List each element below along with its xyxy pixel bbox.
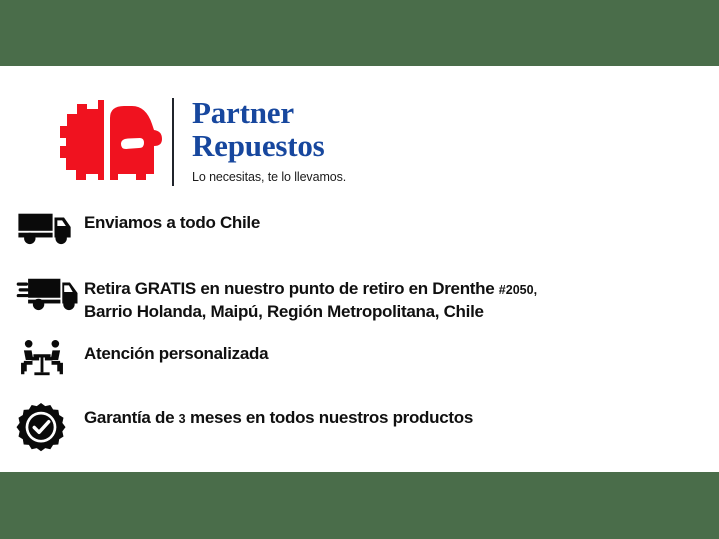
- brand-tagline: Lo necesitas, te lo llevamos.: [192, 170, 346, 184]
- delivery-truck-icon: [16, 206, 84, 246]
- brand-logo-block: Partner Repuestos Lo necesitas, te lo ll…: [58, 94, 346, 186]
- feature-text-shipping: Enviamos a todo Chile: [84, 206, 260, 234]
- bottom-green-band: [0, 472, 719, 539]
- gear-car-logo-icon: [58, 94, 166, 186]
- meeting-table-icon: [16, 337, 84, 379]
- feature-text-pickup-number: #2050: [499, 283, 534, 297]
- feature-text-warranty-main: Garantía de: [84, 408, 179, 427]
- brand-name-line2: Repuestos: [192, 129, 346, 162]
- feature-text-pickup-line2: Barrio Holanda, Maipú, Región Metropolit…: [84, 302, 484, 321]
- brand-name-line1: Partner: [192, 96, 346, 129]
- feature-text-attention: Atención personalizada: [84, 337, 268, 365]
- feature-item-warranty: Garantía de 3 meses en todos nuestros pr…: [16, 401, 706, 453]
- feature-list: Enviamos a todo Chile: [16, 206, 706, 453]
- feature-text-pickup-main: Retira GRATIS en nuestro punto de retiro…: [84, 279, 499, 298]
- feature-item-shipping: Enviamos a todo Chile: [16, 206, 706, 252]
- feature-text-warranty: Garantía de 3 meses en todos nuestros pr…: [84, 401, 473, 430]
- feature-text-shipping-main: Enviamos a todo Chile: [84, 213, 260, 232]
- feature-item-pickup: Retira GRATIS en nuestro punto de retiro…: [16, 272, 706, 323]
- feature-text-pickup: Retira GRATIS en nuestro punto de retiro…: [84, 272, 537, 323]
- feature-text-warranty-number: 3: [179, 412, 186, 426]
- feature-item-attention: Atención personalizada: [16, 337, 706, 383]
- logo-divider: [172, 98, 174, 186]
- feature-text-pickup-after: ,: [534, 283, 537, 297]
- top-green-band: [0, 0, 719, 66]
- brand-text-block: Partner Repuestos Lo necesitas, te lo ll…: [192, 94, 346, 184]
- guarantee-badge-check-icon: [16, 401, 84, 453]
- feature-text-warranty-after: meses en todos nuestros productos: [186, 408, 473, 427]
- promo-banner: Partner Repuestos Lo necesitas, te lo ll…: [0, 0, 719, 539]
- fast-truck-icon: [16, 272, 84, 312]
- feature-text-attention-main: Atención personalizada: [84, 344, 268, 363]
